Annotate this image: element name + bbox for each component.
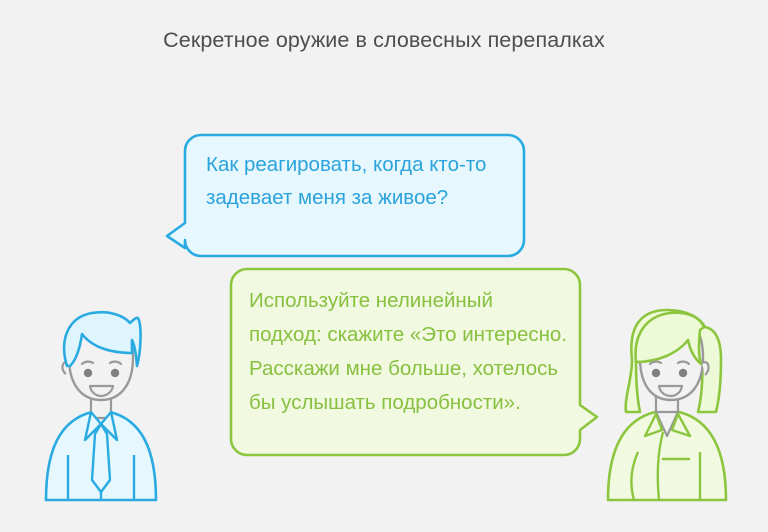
female-avatar <box>608 310 726 500</box>
illustration-canvas: Секретное оружие в словесных перепалках … <box>0 0 768 532</box>
male-eye-left <box>84 369 92 377</box>
male-tie <box>92 424 110 492</box>
male-eye-right <box>111 369 119 377</box>
female-eye-left <box>652 369 660 377</box>
female-eye-right <box>679 369 687 377</box>
male-avatar <box>46 312 156 500</box>
avatars-layer <box>0 0 768 532</box>
